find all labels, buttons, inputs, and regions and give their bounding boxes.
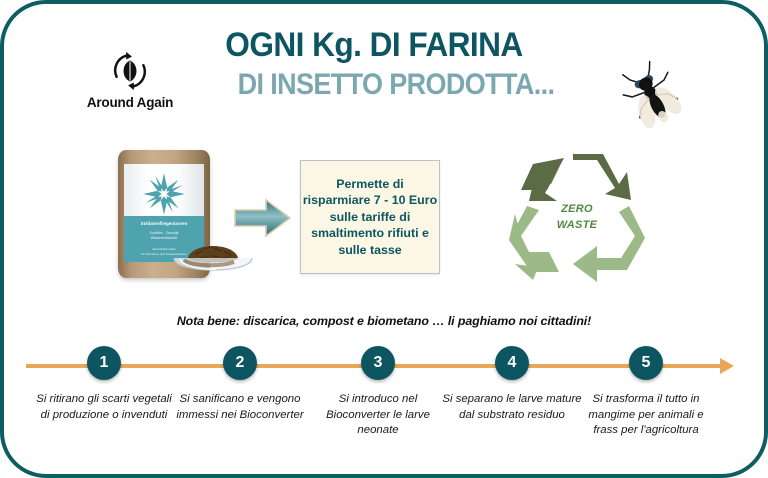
tube-label-title: Soldatenfliegenlarven <box>124 221 204 226</box>
timeline-step-3[interactable]: 3 Si introduco nel Bioconverter le larve… <box>308 346 448 439</box>
product-illustration: Soldatenfliegenlarven Zootliche - Zwizzl… <box>108 150 228 282</box>
step-number-4: 4 <box>495 346 529 380</box>
title-line-2: DI INSETTO PRODOTTA... <box>218 68 574 101</box>
timeline-arrowhead-icon <box>720 358 734 374</box>
timeline-step-5[interactable]: 5 Si trasforma il tutto in mangime per a… <box>576 346 716 439</box>
page-title: OGNI Kg. DI FARINA DI INSETTO PRODOTTA..… <box>154 28 594 101</box>
recycle-leaf-icon <box>107 48 153 94</box>
timeline-step-4[interactable]: 4 Si separano le larve mature dal substr… <box>442 346 582 423</box>
right-arrow-icon <box>232 196 294 240</box>
step-caption-1: Si ritirano gli scarti vegetali di produ… <box>34 392 174 423</box>
step-caption-5: Si trasforma il tutto in mangime per ani… <box>576 392 716 439</box>
black-soldier-fly-icon <box>608 56 692 128</box>
step-caption-3: Si introduco nel Bioconverter le larve n… <box>308 392 448 439</box>
process-timeline: 1 Si ritirano gli scarti vegetali di pro… <box>26 356 750 468</box>
step-caption-4: Si separano le larve mature dal substrat… <box>442 392 582 423</box>
savings-callout-text: Permette di risparmiare 7 - 10 Euro sull… <box>301 176 439 258</box>
step-number-3: 3 <box>361 346 395 380</box>
step-number-1: 1 <box>87 346 121 380</box>
infographic-canvas: Around Again OGNI Kg. DI FARINA DI INSET… <box>0 0 768 478</box>
zero-waste-label: ZERO WASTE <box>507 202 647 234</box>
timeline-step-2[interactable]: 2 Si sanificano e vengono immessi nei Bi… <box>170 346 310 423</box>
step-number-5: 5 <box>629 346 663 380</box>
zero-waste-recycle-icon: ZERO WASTE <box>507 144 647 284</box>
timeline-step-1[interactable]: 1 Si ritirano gli scarti vegetali di pro… <box>34 346 174 423</box>
title-line-1: OGNI Kg. DI FARINA <box>169 28 578 64</box>
nota-bene-text: Nota bene: discarica, compost e biometan… <box>4 314 764 328</box>
step-number-2: 2 <box>223 346 257 380</box>
step-caption-2: Si sanificano e vengono immessi nei Bioc… <box>170 392 310 423</box>
savings-callout: Permette di risparmiare 7 - 10 Euro sull… <box>300 160 440 274</box>
